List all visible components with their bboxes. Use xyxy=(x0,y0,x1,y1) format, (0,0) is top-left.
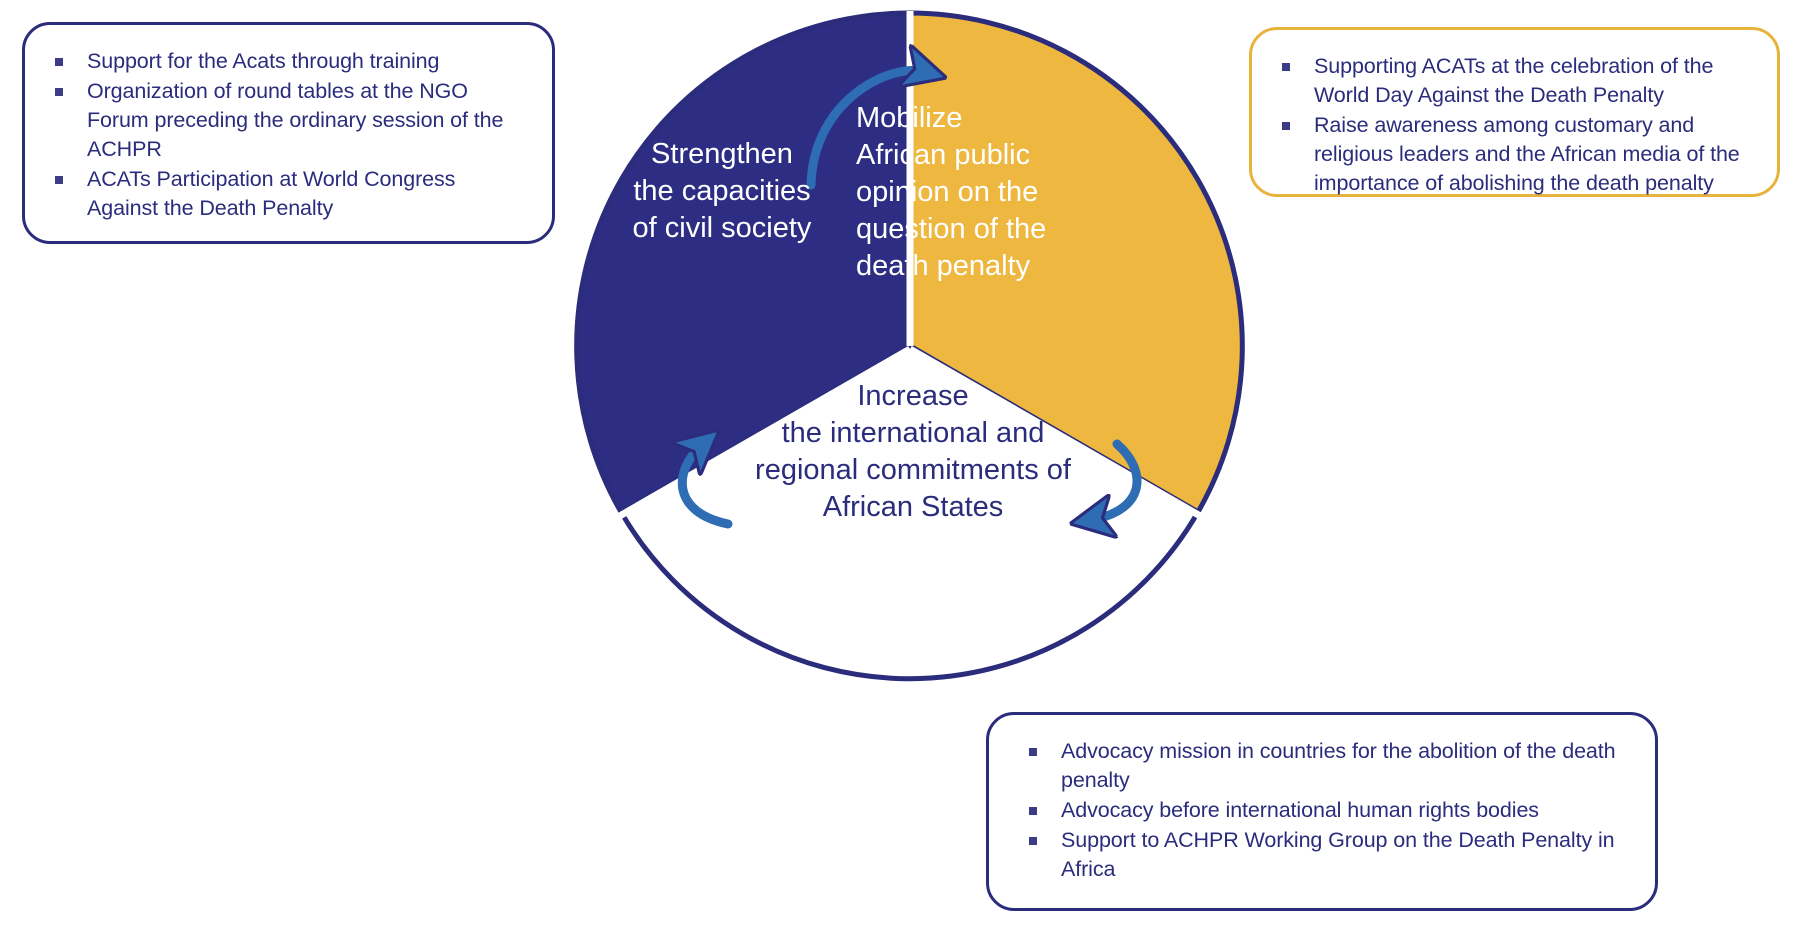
list-item: Supporting ACATs at the celebration of t… xyxy=(1270,52,1755,110)
slice-label-increase: Increase the international and regional … xyxy=(613,378,1213,526)
list-item: Advocacy mission in countries for the ab… xyxy=(1011,737,1629,795)
diagram-canvas: Support for the Acats through training O… xyxy=(0,0,1800,933)
list-item: Support to ACHPR Working Group on the De… xyxy=(1011,826,1629,884)
slice-label-strengthen: Strengthen the capacities of civil socie… xyxy=(606,136,838,247)
callout-mobilize-list: Supporting ACATs at the celebration of t… xyxy=(1270,52,1755,198)
list-item: Raise awareness among customary and reli… xyxy=(1270,111,1755,198)
cycle-wheel: Strengthen the capacities of civil socie… xyxy=(561,0,1261,700)
list-item: ACATs Participation at World Congress Ag… xyxy=(43,165,526,223)
callout-capacities-list: Support for the Acats through training O… xyxy=(43,47,526,223)
callout-capacities: Support for the Acats through training O… xyxy=(22,22,555,244)
slice-label-mobilize: Mobilize African public opinion on the q… xyxy=(856,100,1088,285)
callout-mobilize: Supporting ACATs at the celebration of t… xyxy=(1249,27,1780,197)
list-item: Support for the Acats through training xyxy=(43,47,526,76)
callout-commitments-list: Advocacy mission in countries for the ab… xyxy=(1011,737,1629,884)
list-item: Organization of round tables at the NGO … xyxy=(43,77,526,164)
callout-commitments: Advocacy mission in countries for the ab… xyxy=(986,712,1658,911)
list-item: Advocacy before international human righ… xyxy=(1011,796,1629,825)
